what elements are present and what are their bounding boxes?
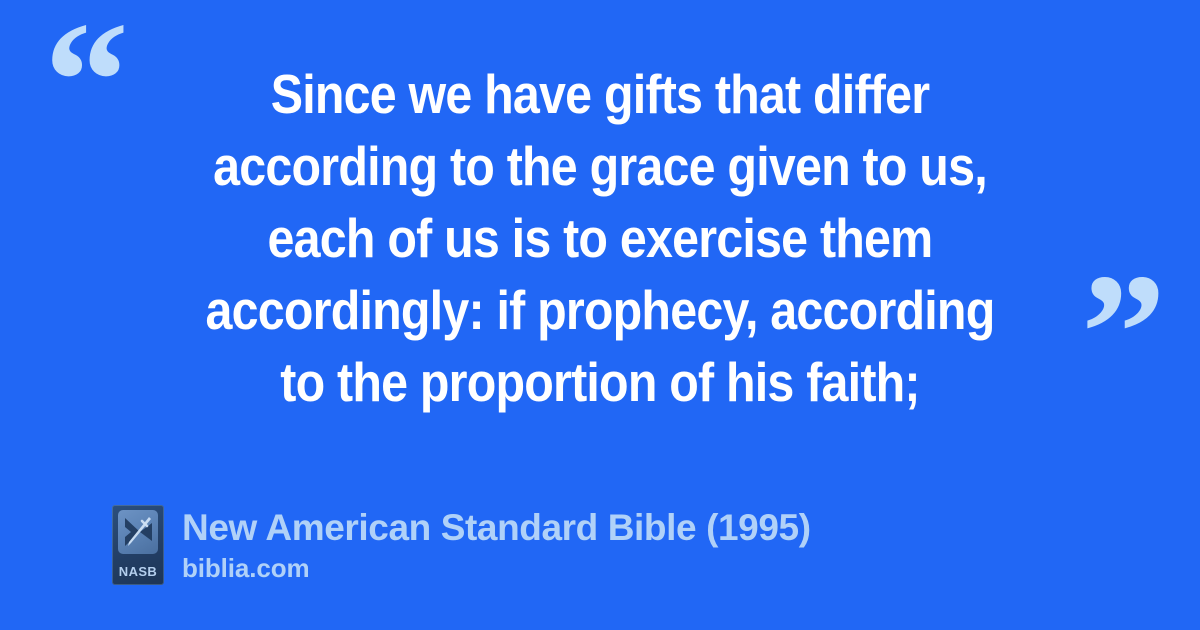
- quote-card: “ Since we have gifts that differ accord…: [0, 0, 1200, 630]
- quote-line: each of us is to exercise them: [169, 202, 1031, 274]
- quote-line: Since we have gifts that differ: [169, 58, 1031, 130]
- source-site-link[interactable]: biblia.com: [182, 552, 811, 584]
- nasb-logo-tile: [118, 510, 158, 554]
- quote-line: to the proportion of his faith;: [169, 346, 1031, 418]
- close-quote-icon: ”: [1081, 248, 1166, 418]
- attribution: NASB New American Standard Bible (1995) …: [112, 505, 811, 585]
- nasb-logo-icon: NASB: [112, 505, 164, 585]
- quote-text-block: Since we have gifts that differ accordin…: [0, 58, 1200, 418]
- source-title: New American Standard Bible (1995): [182, 506, 811, 550]
- nasb-wordmark: NASB: [112, 565, 164, 578]
- attribution-text: New American Standard Bible (1995) bibli…: [182, 505, 811, 584]
- quote-line: accordingly: if prophecy, according: [169, 274, 1031, 346]
- quote-line: according to the grace given to us,: [169, 130, 1031, 202]
